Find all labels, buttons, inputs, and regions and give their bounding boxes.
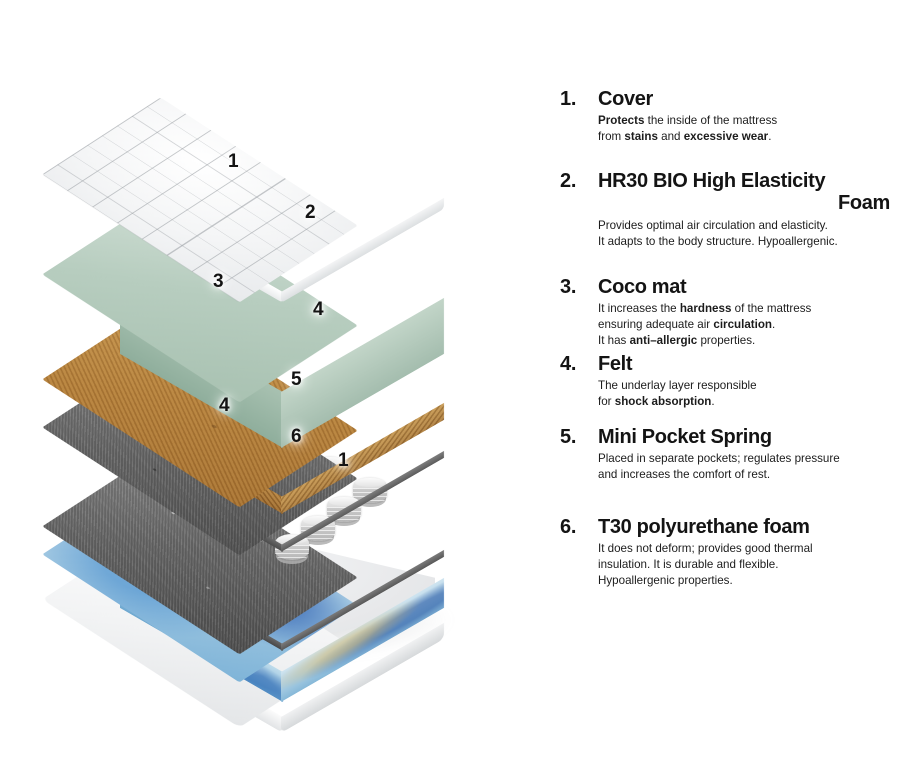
list-item-body: Mini Pocket SpringPlaced in separate poc…	[598, 426, 890, 483]
list-item: 2.HR30 BIO High ElasticityFoamProvides o…	[560, 170, 890, 250]
list-item-number: 6.	[560, 516, 594, 539]
diagram-label-hr30-bio-foam: 2	[305, 203, 316, 222]
list-item-description: The underlay layer responsiblefor shock …	[598, 378, 890, 410]
list-item: 4.FeltThe underlay layer responsiblefor …	[560, 353, 890, 410]
list-item-body: FeltThe underlay layer responsiblefor sh…	[598, 353, 890, 410]
list-item-title: T30 polyurethane foam	[598, 516, 890, 538]
list-item-title: HR30 BIO High Elasticity	[598, 170, 890, 192]
list-item: 1.CoverProtects the inside of the mattre…	[560, 88, 890, 145]
list-item-title: Cover	[598, 88, 890, 110]
list-item-body: Coco matIt increases the hardness of the…	[598, 276, 890, 349]
diagram-label-cover-bottom: 1	[338, 451, 349, 470]
list-item-body: CoverProtects the inside of the mattress…	[598, 88, 890, 145]
list-item: 6.T30 polyurethane foamIt does not defor…	[560, 516, 890, 589]
list-item-description: Placed in separate pockets; regulates pr…	[598, 451, 890, 483]
list-item-title: Felt	[598, 353, 890, 375]
list-item-number: 1.	[560, 88, 594, 111]
list-item-number: 5.	[560, 426, 594, 449]
list-item-description: Provides optimal air circulation and ela…	[598, 218, 890, 250]
diagram-label-felt-upper: 4	[313, 300, 324, 319]
diagram-label-mini-pocket-spring: 5	[291, 370, 302, 389]
infographic-page: 12345461 1.CoverProtects the inside of t…	[0, 0, 900, 675]
list-item-number: 4.	[560, 353, 594, 376]
list-item-title: Mini Pocket Spring	[598, 426, 890, 448]
list-item-body: T30 polyurethane foamIt does not deform;…	[598, 516, 890, 589]
list-item: 5.Mini Pocket SpringPlaced in separate p…	[560, 426, 890, 483]
list-item: 3.Coco matIt increases the hardness of t…	[560, 276, 890, 349]
list-item-description: It does not deform; provides good therma…	[598, 541, 890, 589]
list-item-title-line2: Foam	[598, 192, 890, 214]
list-item-body: HR30 BIO High ElasticityFoamProvides opt…	[598, 170, 890, 250]
layer-cover-top	[85, 85, 505, 345]
exploded-mattress-diagram: 12345461	[55, 85, 475, 585]
list-item-description: Protects the inside of the mattressfrom …	[598, 113, 890, 145]
list-item-number: 3.	[560, 276, 594, 299]
diagram-label-coco-mat: 3	[213, 272, 224, 291]
diagram-label-felt-lower: 4	[219, 396, 230, 415]
list-item-title: Coco mat	[598, 276, 890, 298]
cover-top-quilted-face	[42, 98, 358, 303]
list-item-description: It increases the hardness of the mattres…	[598, 301, 890, 349]
list-item-number: 2.	[560, 170, 594, 193]
diagram-label-t30-polyurethane-foam: 6	[291, 427, 302, 446]
diagram-label-cover-top: 1	[228, 152, 239, 171]
